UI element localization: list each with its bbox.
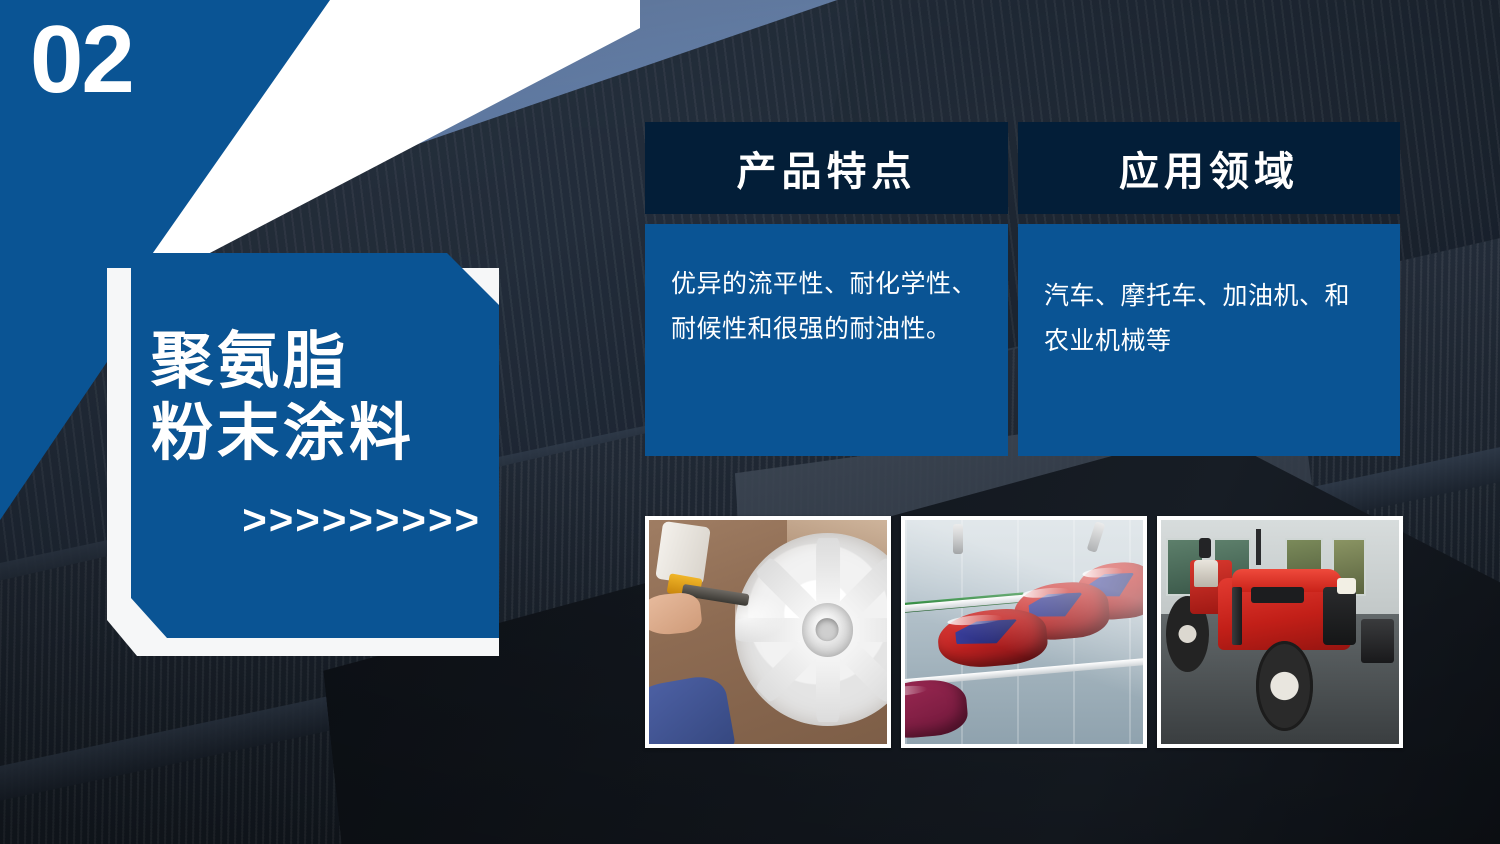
spray-haze xyxy=(905,520,1143,744)
card-application-fields-title: 应用领域 xyxy=(1119,139,1299,197)
operator-hand xyxy=(649,591,703,638)
title-line-2: 粉末涂料 xyxy=(131,397,499,469)
photo-strip xyxy=(645,516,1403,748)
tractor-seat xyxy=(1194,560,1218,587)
slide-canvas: 02 聚氨脂 粉末涂料 >>>>>>>>> 产品特点 优异的流平性、耐化学性、耐… xyxy=(0,0,1500,844)
tractor-hood-vent xyxy=(1251,587,1303,603)
photo-tractor xyxy=(1157,516,1403,748)
tractor-grille xyxy=(1323,587,1356,645)
card-product-features-text: 优异的流平性、耐化学性、耐候性和很强的耐油性。 xyxy=(671,262,982,351)
photo-wheel-spraying xyxy=(645,516,891,748)
info-cards-group: 产品特点 优异的流平性、耐化学性、耐候性和很强的耐油性。 应用领域 汽车、摩托车… xyxy=(645,122,1400,456)
tractor-exhaust xyxy=(1232,587,1242,645)
card-application-fields-header: 应用领域 xyxy=(1018,122,1400,214)
photo-wheel-spraying-image xyxy=(649,520,887,744)
tractor-roll-post xyxy=(1256,529,1261,565)
tractor-front-hitch xyxy=(1361,619,1394,664)
tractor-mirror xyxy=(1199,538,1211,558)
card-application-fields-text: 汽车、摩托车、加油机、和农业机械等 xyxy=(1044,274,1374,363)
tractor-headlight xyxy=(1337,578,1356,594)
card-product-features-title: 产品特点 xyxy=(737,139,917,197)
chevron-arrows-icon: >>>>>>>>> xyxy=(131,499,499,541)
card-product-features-body: 优异的流平性、耐化学性、耐候性和很强的耐油性。 xyxy=(645,224,1008,456)
title-line-1: 聚氨脂 xyxy=(131,325,499,397)
title-card: 聚氨脂 粉末涂料 >>>>>>>>> xyxy=(131,253,499,638)
photo-tank-line-image xyxy=(905,520,1143,744)
photo-tractor-image xyxy=(1161,520,1399,744)
tractor-front-wheel xyxy=(1256,641,1313,731)
card-application-fields-body: 汽车、摩托车、加油机、和农业机械等 xyxy=(1018,224,1400,456)
section-number: 02 xyxy=(30,12,133,108)
photo-tank-line xyxy=(901,516,1147,748)
wheel-hub xyxy=(802,603,854,657)
card-product-features-header: 产品特点 xyxy=(645,122,1008,214)
card-product-features: 产品特点 优异的流平性、耐化学性、耐候性和很强的耐油性。 xyxy=(645,122,1008,456)
operator-sleeve xyxy=(649,673,736,744)
card-application-fields: 应用领域 汽车、摩托车、加油机、和农业机械等 xyxy=(1018,122,1400,456)
